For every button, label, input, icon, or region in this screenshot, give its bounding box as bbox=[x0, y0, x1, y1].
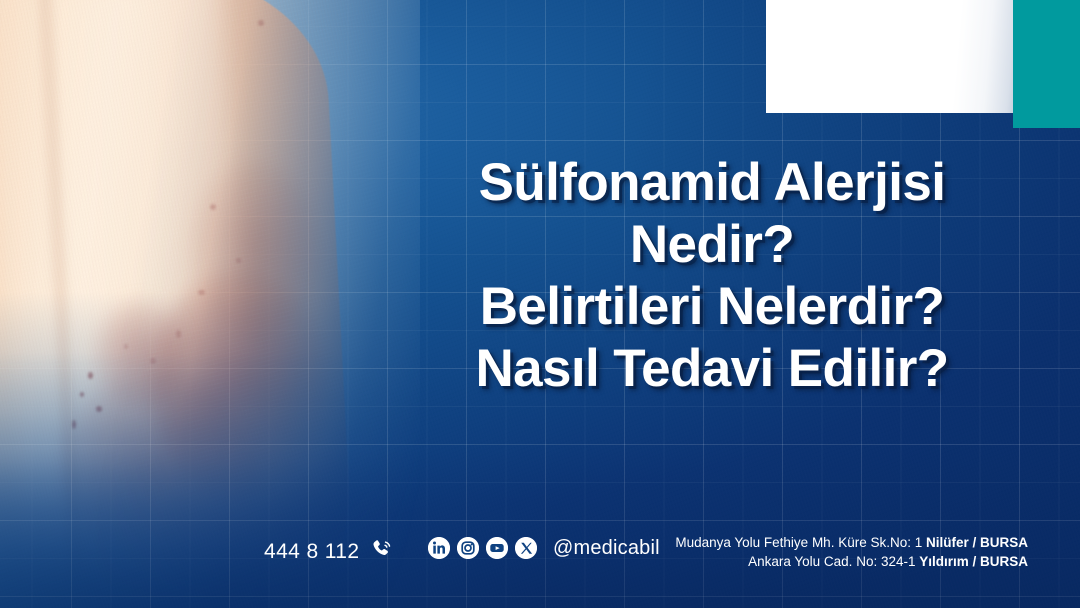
logo-panel: MEDICABIL Sağlık Grubu bbox=[766, 0, 1014, 113]
linkedin-icon[interactable] bbox=[428, 537, 450, 559]
address-line-1-city: Nilüfer / BURSA bbox=[926, 535, 1028, 550]
phone-number: 444 8 112 bbox=[264, 540, 359, 564]
address-line-1: Mudanya Yolu Fethiye Mh. Küre Sk.No: 1 N… bbox=[675, 533, 1028, 552]
address-line-2-city: Yıldırım / BURSA bbox=[919, 554, 1028, 569]
title-line-4: Nasıl Tedavi Edilir? bbox=[362, 338, 1062, 400]
photo-grid-overlay bbox=[0, 0, 420, 608]
skin-rash-arm-photo bbox=[0, 0, 420, 608]
title-line-2: Nedir? bbox=[362, 214, 1062, 276]
x-twitter-icon[interactable] bbox=[515, 537, 537, 559]
address-block: Mudanya Yolu Fethiye Mh. Küre Sk.No: 1 N… bbox=[675, 533, 1028, 571]
instagram-icon[interactable] bbox=[457, 537, 479, 559]
social-handle: @medicabil bbox=[553, 537, 660, 559]
phone-contact[interactable]: 444 8 112 bbox=[264, 537, 394, 566]
page-title: Sülfonamid Alerjisi Nedir? Belirtileri N… bbox=[362, 152, 1062, 400]
address-line-1-text: Mudanya Yolu Fethiye Mh. Küre Sk.No: 1 bbox=[675, 535, 926, 550]
address-line-2-text: Ankara Yolu Cad. No: 324-1 bbox=[748, 554, 919, 569]
teal-accent-block bbox=[1013, 0, 1080, 128]
photo-fade-layer bbox=[0, 0, 420, 608]
social-links[interactable]: @medicabil bbox=[428, 537, 660, 559]
address-line-2: Ankara Yolu Cad. No: 324-1 Yıldırım / BU… bbox=[675, 552, 1028, 571]
poster-canvas: MEDICABIL Sağlık Grubu Sülfonamid Alerji… bbox=[0, 0, 1080, 608]
phone-call-icon bbox=[370, 537, 394, 566]
youtube-icon[interactable] bbox=[486, 537, 508, 559]
title-line-1: Sülfonamid Alerjisi bbox=[362, 152, 1062, 214]
title-line-3: Belirtileri Nelerdir? bbox=[362, 276, 1062, 338]
